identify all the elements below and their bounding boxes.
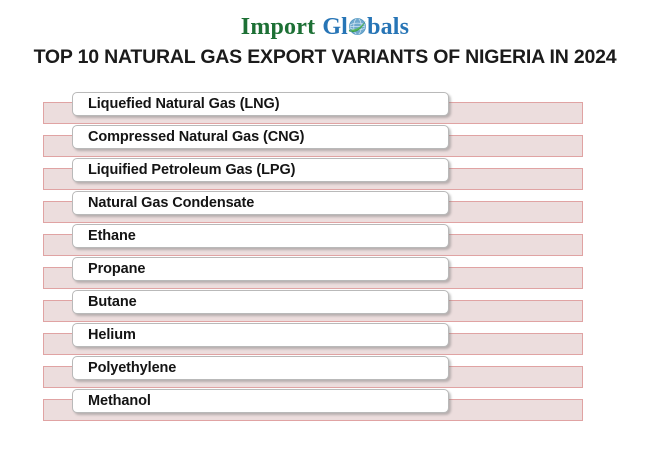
brand-logo: Import Gl bals	[0, 0, 650, 42]
chart-bar-label-box: Compressed Natural Gas (CNG)	[72, 125, 449, 149]
chart-bar-label-box: Polyethylene	[72, 356, 449, 380]
globe-icon	[348, 16, 367, 35]
chart-page: { "brand": { "text_part1": "Import", "te…	[0, 0, 650, 450]
chart-bar-label-box: Propane	[72, 257, 449, 281]
chart-category-label: Methanol	[73, 393, 151, 409]
brand-gl-text: Gl	[322, 14, 348, 41]
chart-row: Natural Gas Condensate	[0, 191, 650, 224]
chart-row: Compressed Natural Gas (CNG)	[0, 125, 650, 158]
chart-row: Helium	[0, 323, 650, 356]
chart-bar-label-box: Ethane	[72, 224, 449, 248]
chart-category-label: Propane	[73, 261, 145, 277]
chart-category-label: Polyethylene	[73, 360, 176, 376]
chart-bar-label-box: Butane	[72, 290, 449, 314]
chart-row: Butane	[0, 290, 650, 323]
chart-row: Ethane	[0, 224, 650, 257]
chart-row: Polyethylene	[0, 356, 650, 389]
chart-title: TOP 10 NATURAL GAS EXPORT VARIANTS OF NI…	[0, 46, 650, 69]
brand-wordmark: Import Gl bals	[241, 14, 409, 41]
chart-bar-label-box: Methanol	[72, 389, 449, 413]
chart-bar-label-box: Natural Gas Condensate	[72, 191, 449, 215]
brand-bals-text: bals	[367, 14, 409, 41]
chart-bar-label-box: Liquefied Natural Gas (LNG)	[72, 92, 449, 116]
chart-row: Methanol	[0, 389, 650, 422]
chart-category-label: Butane	[73, 294, 137, 310]
chart-bar-label-box: Helium	[72, 323, 449, 347]
chart-category-label: Natural Gas Condensate	[73, 195, 254, 211]
chart-category-label: Helium	[73, 327, 136, 343]
brand-import-text: Import	[241, 14, 316, 41]
chart-row: Liquefied Natural Gas (LNG)	[0, 92, 650, 125]
chart-category-label: Liquefied Natural Gas (LNG)	[73, 96, 279, 112]
chart-category-label: Compressed Natural Gas (CNG)	[73, 129, 304, 145]
chart-row: Liquified Petroleum Gas (LPG)	[0, 158, 650, 191]
chart-bar-label-box: Liquified Petroleum Gas (LPG)	[72, 158, 449, 182]
chart-row: Propane	[0, 257, 650, 290]
chart-category-label: Ethane	[73, 228, 136, 244]
chart-plot-area: Liquefied Natural Gas (LNG) Compressed N…	[0, 92, 650, 442]
chart-category-label: Liquified Petroleum Gas (LPG)	[73, 162, 295, 178]
